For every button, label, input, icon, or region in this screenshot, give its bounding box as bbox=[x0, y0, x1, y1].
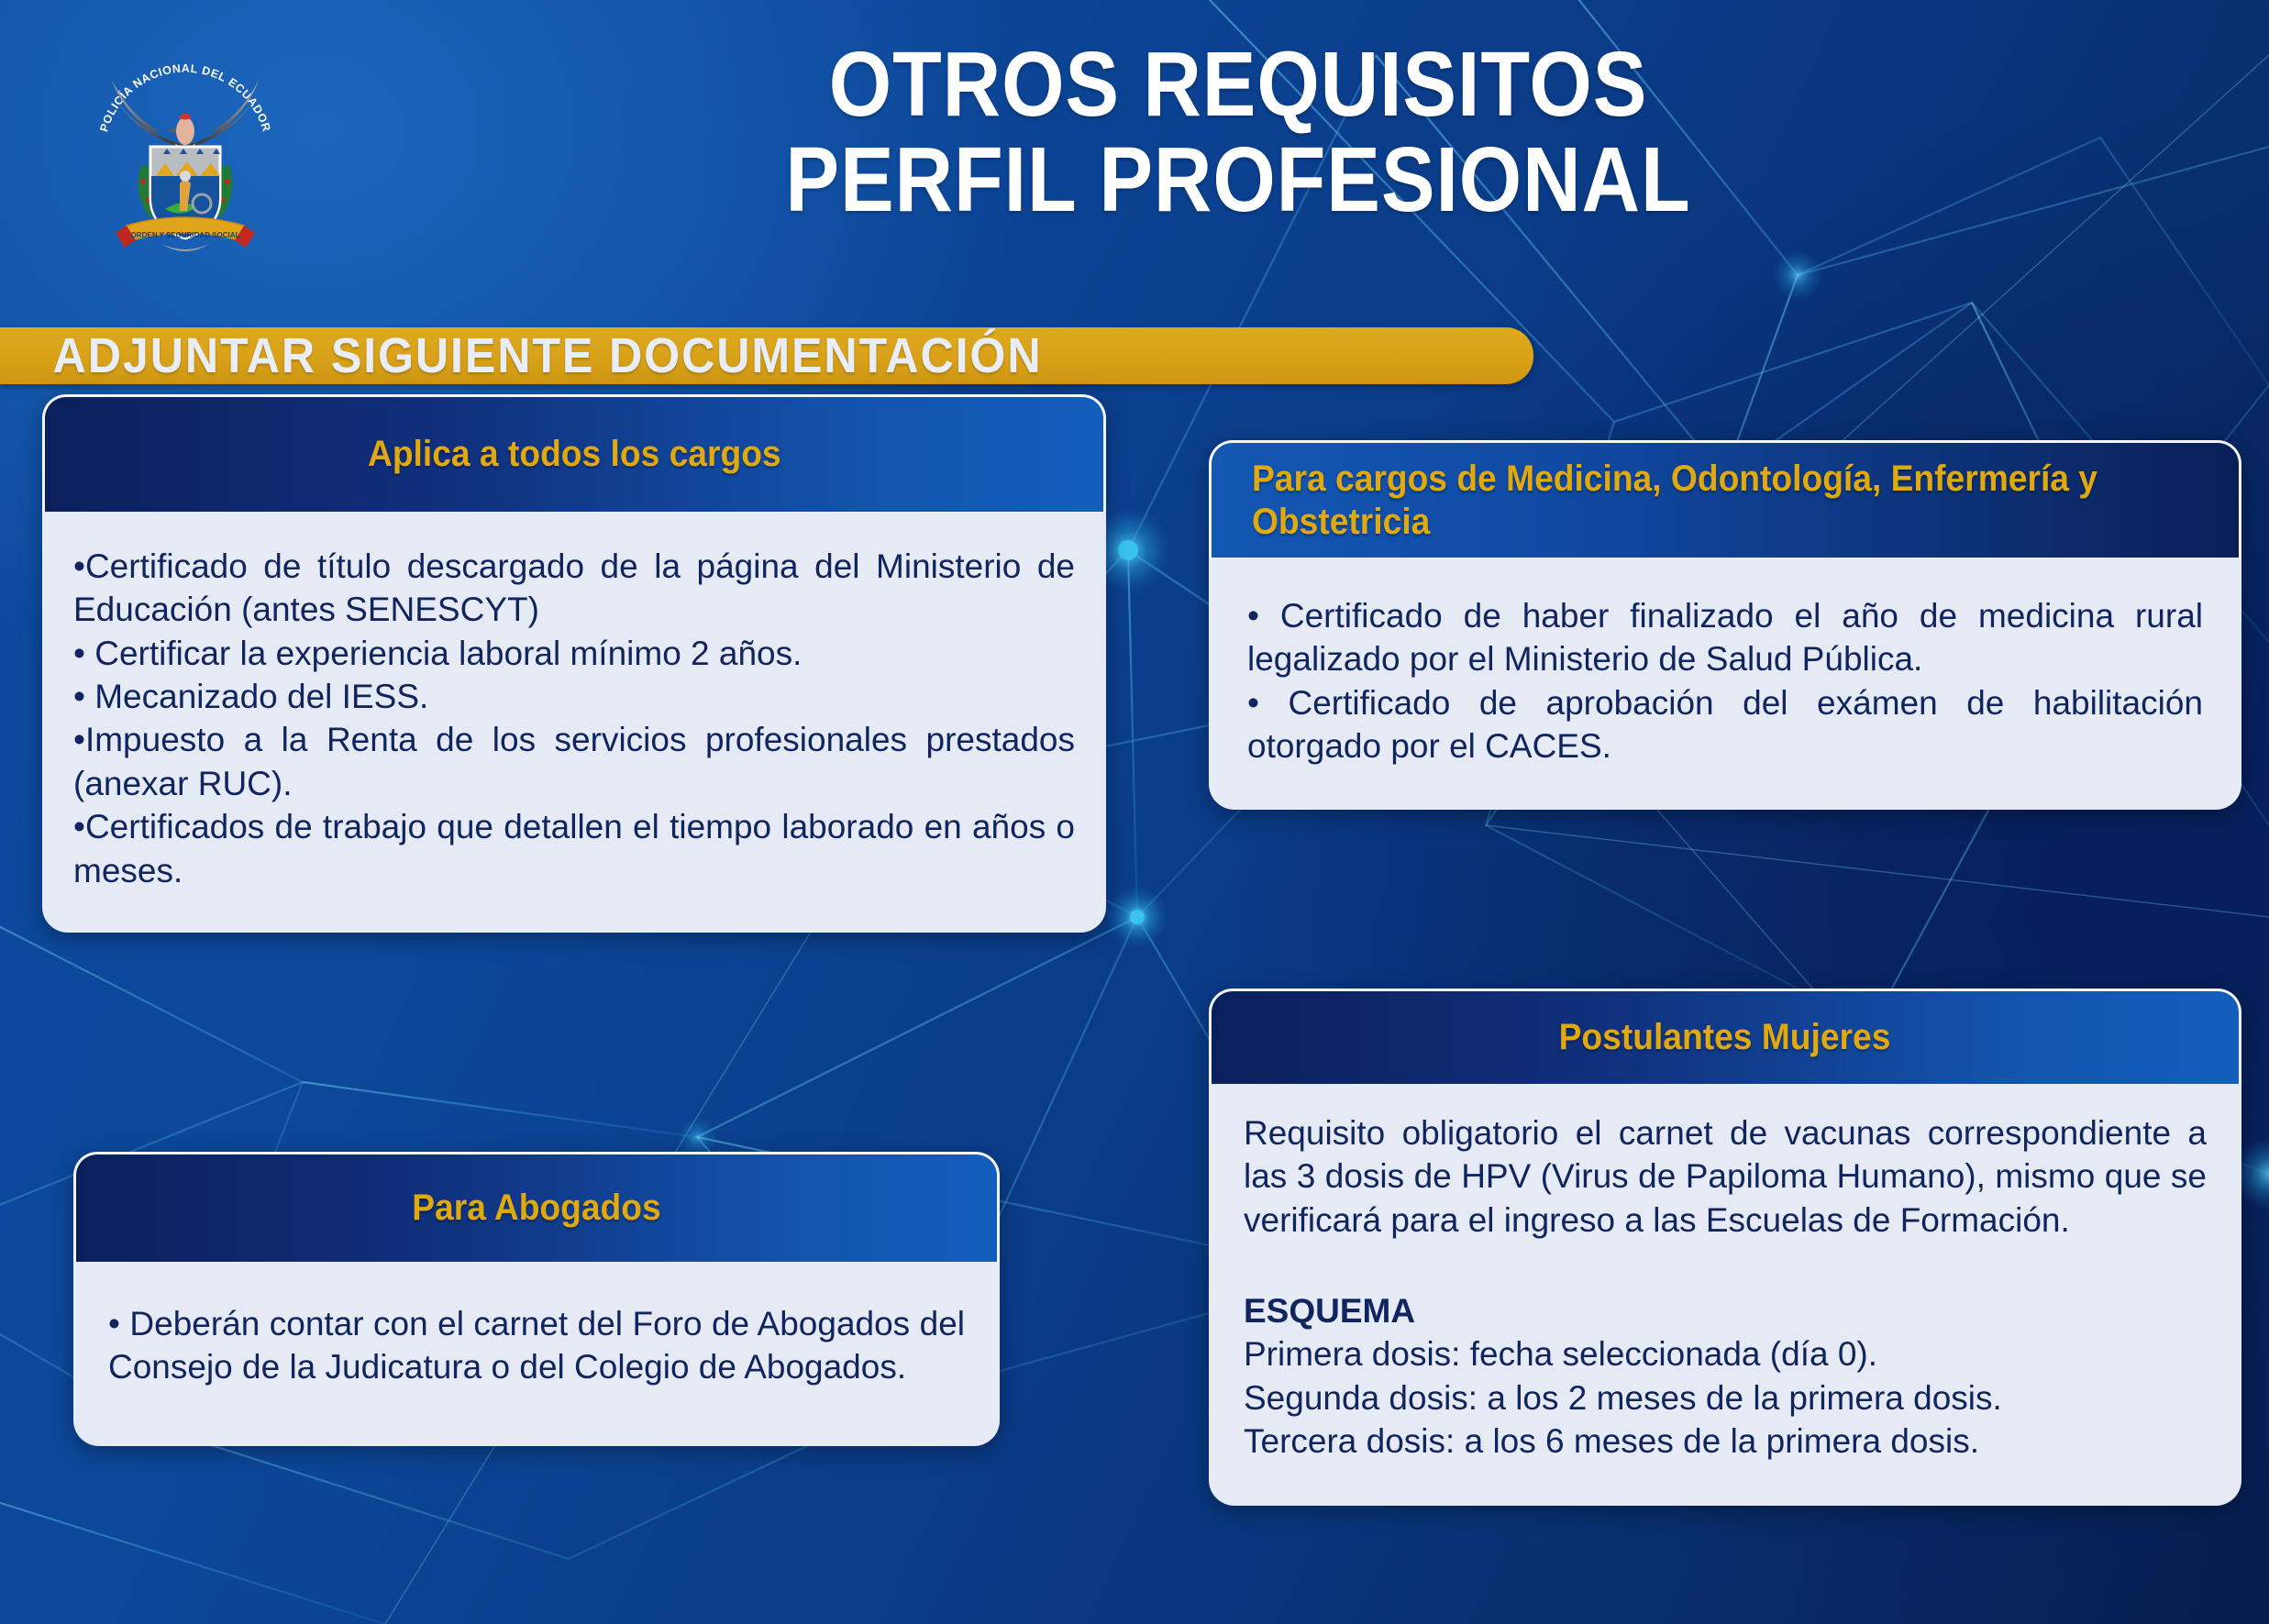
list-item: •Impuesto a la Renta de los servicios pr… bbox=[73, 718, 1075, 805]
section-banner: ADJUNTAR SIGUIENTE DOCUMENTACIÓN bbox=[0, 327, 1533, 384]
list-item: • Certificado de aprobación del exámen d… bbox=[1247, 681, 2203, 768]
card-para-abogados: Para Abogados • Deberán contar con el ca… bbox=[73, 1152, 1000, 1446]
card-intro-text: Requisito obligatorio el carnet de vacun… bbox=[1244, 1111, 2207, 1242]
schema-line: Primera dosis: fecha seleccionada (día 0… bbox=[1244, 1332, 2207, 1375]
card-header: Para Abogados bbox=[73, 1152, 1000, 1262]
card-header: Aplica a todos los cargos bbox=[42, 394, 1106, 512]
list-item: • Certificar la experiencia laboral míni… bbox=[73, 632, 1075, 675]
card-heading: Postulantes Mujeres bbox=[1559, 1016, 1891, 1058]
svg-text:ORDEN Y SEGURIDAD SOCIAL: ORDEN Y SEGURIDAD SOCIAL bbox=[131, 231, 240, 239]
card-heading: Para Abogados bbox=[412, 1187, 660, 1229]
police-emblem-icon: POLICÍA NACIONAL DEL ECUADOR bbox=[84, 37, 286, 252]
page-title: OTROS REQUISITOS PERFIL PROFESIONAL bbox=[642, 37, 1834, 227]
list-item: • Certificado de haber finalizado el año… bbox=[1247, 594, 2203, 681]
schema-line: Segunda dosis: a los 2 meses de la prime… bbox=[1244, 1376, 2207, 1420]
section-banner-label: ADJUNTAR SIGUIENTE DOCUMENTACIÓN bbox=[0, 327, 1426, 384]
poster-root: POLICÍA NACIONAL DEL ECUADOR bbox=[0, 0, 2269, 1624]
card-header: Postulantes Mujeres bbox=[1209, 989, 2241, 1084]
schema-line: Tercera dosis: a los 6 meses de la prime… bbox=[1244, 1420, 2207, 1463]
card-aplica-todos-los-cargos: Aplica a todos los cargos •Certificado d… bbox=[42, 394, 1106, 933]
title-line-2: PERFIL PROFESIONAL bbox=[714, 132, 1763, 227]
card-cargos-medicina: Para cargos de Medicina, Odontología, En… bbox=[1209, 440, 2241, 810]
list-item: • Mecanizado del IESS. bbox=[73, 675, 1075, 718]
card-body: • Deberán contar con el carnet del Foro … bbox=[73, 1262, 1000, 1446]
list-item: •Certificado de título descargado de la … bbox=[73, 545, 1075, 632]
card-postulantes-mujeres: Postulantes Mujeres Requisito obligatori… bbox=[1209, 989, 2241, 1506]
schema-title: ESQUEMA bbox=[1244, 1289, 2207, 1332]
poster-header: POLICÍA NACIONAL DEL ECUADOR bbox=[0, 0, 2269, 326]
card-heading: Para cargos de Medicina, Odontología, En… bbox=[1252, 458, 2170, 543]
list-item: •Certificados de trabajo que detallen el… bbox=[73, 805, 1075, 892]
card-header: Para cargos de Medicina, Odontología, En… bbox=[1209, 440, 2241, 558]
card-body: • Certificado de haber finalizado el año… bbox=[1209, 558, 2241, 810]
title-line-1: OTROS REQUISITOS bbox=[714, 37, 1763, 132]
card-heading: Aplica a todos los cargos bbox=[368, 433, 781, 475]
card-body: •Certificado de título descargado de la … bbox=[42, 512, 1106, 933]
list-item: • Deberán contar con el carnet del Foro … bbox=[108, 1302, 965, 1389]
card-body: Requisito obligatorio el carnet de vacun… bbox=[1209, 1084, 2241, 1506]
